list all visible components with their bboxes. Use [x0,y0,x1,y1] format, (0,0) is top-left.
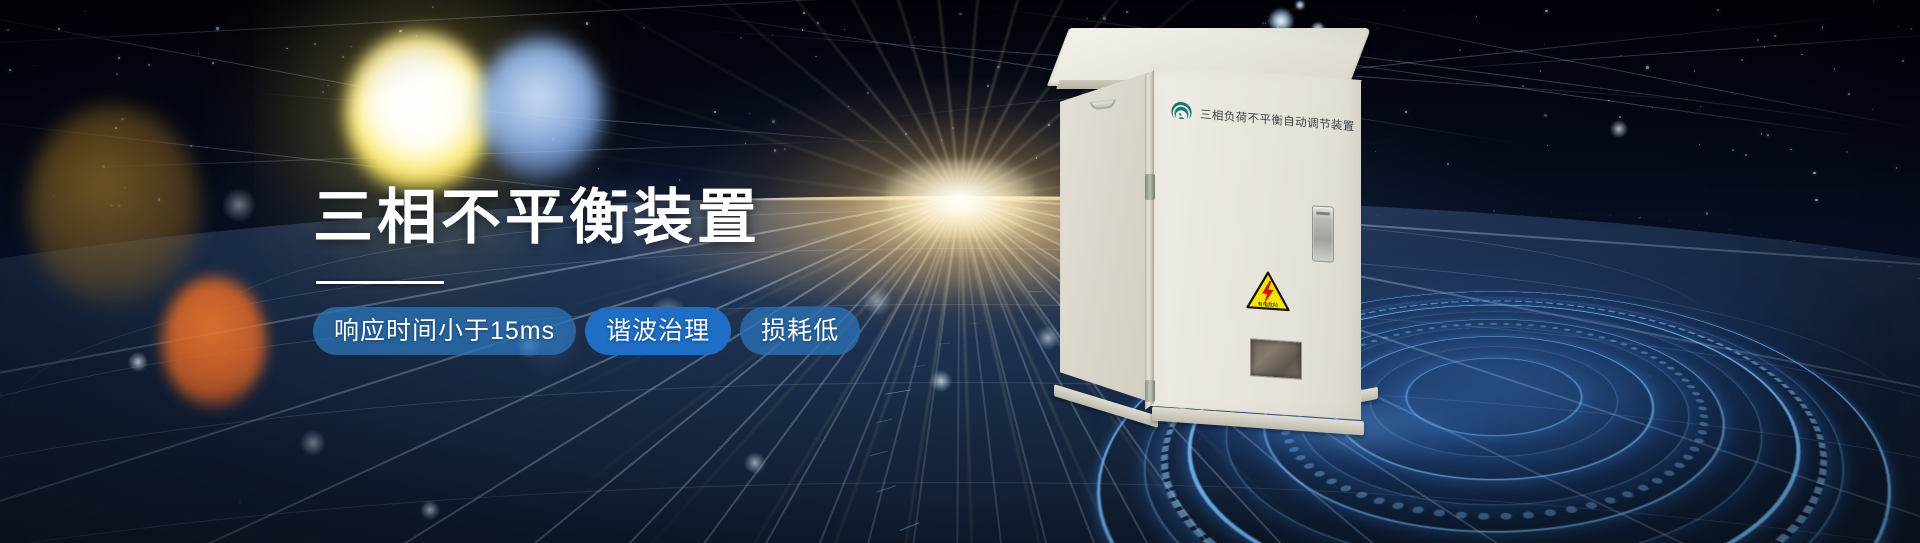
ventilation-plate [1250,338,1302,380]
hud-tick [1494,210,1495,211]
door-latch-upper [1145,174,1155,200]
banner-title: 三相不平衡装置 [313,186,860,251]
grid-node-4 [1036,326,1060,350]
banner-copy: 三相不平衡装置 响应时间小于15ms谐波治理损耗低 [313,186,860,355]
grid-node-0 [222,188,256,222]
title-divider [316,281,444,284]
feature-tag-2[interactable]: 谐波治理 [585,307,731,355]
grid-node-10 [420,500,440,520]
bokeh-amber-left [28,106,200,306]
bokeh-blue [478,38,604,178]
electrical-hazard-warning-sticker: 有电危险 [1246,269,1290,312]
grid-node-3 [862,286,892,316]
door-latch-lower [1145,380,1155,402]
promo-banner: 三相负荷不平衡自动调节装置 有电危险 三相不平衡装置 响应时间小于15ms谐波治… [0,0,1920,543]
grid-node-5 [930,370,952,392]
sparkle-3 [1295,0,1305,10]
door-hinge-strip [1145,70,1154,410]
bokeh-white-yellow [345,32,493,194]
feature-tag-list: 响应时间小于15ms谐波治理损耗低 [313,307,860,355]
hud-tick [1406,213,1408,214]
feature-tag-3[interactable]: 损耗低 [740,307,860,355]
grid-node-7 [744,452,766,474]
grid-node-11 [1610,120,1628,138]
hud-tick [1465,211,1466,212]
bokeh-orange [162,277,266,407]
outdoor-control-cabinet: 三相负荷不平衡自动调节装置 有电危险 [1060,28,1390,448]
grid-node-8 [128,352,148,372]
hud-tick [1436,211,1437,212]
grid-node-6 [300,430,326,456]
sunburst-core [885,159,1035,239]
cabinet-side-panel [1060,72,1150,402]
feature-tag-1[interactable]: 响应时间小于15ms [313,307,576,355]
three-phase-balance-logo [1170,100,1193,125]
front-door-lock-handle [1312,205,1334,263]
